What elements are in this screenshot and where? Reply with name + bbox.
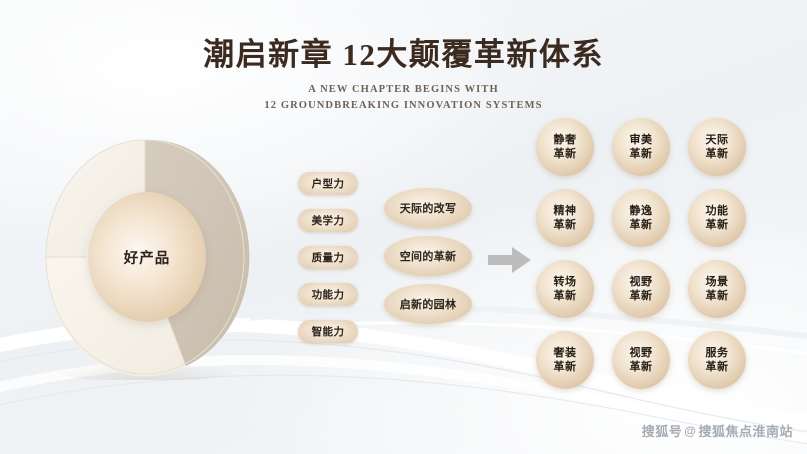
node-line-1: 功能 <box>706 205 729 218</box>
node-line-1: 视野 <box>630 276 653 289</box>
watermark: 搜狐号 @ 搜狐焦点淮南站 <box>642 421 793 440</box>
theme-item-1[interactable]: 空间的革新 <box>384 236 472 276</box>
innovation-node-10[interactable]: 视野 革新 <box>612 331 670 389</box>
innovation-node-8[interactable]: 场景 革新 <box>688 260 746 318</box>
theme-list: 天际的改写 空间的革新 启新的园林 <box>384 188 472 324</box>
innovation-node-7[interactable]: 视野 革新 <box>612 260 670 318</box>
subtitle-line-1: A NEW CHAPTER BEGINS WITH <box>0 82 807 98</box>
node-line-1: 审美 <box>630 134 653 147</box>
innovation-node-6[interactable]: 转场 革新 <box>536 260 594 318</box>
arrow-right-icon <box>488 245 532 275</box>
innovation-node-3[interactable]: 精神 革新 <box>536 189 594 247</box>
node-line-2: 革新 <box>630 219 653 232</box>
watermark-prefix: 搜狐号 <box>642 421 683 440</box>
subtitle-line-2: 12 GROUNDBREAKING INNOVATION SYSTEMS <box>0 98 807 114</box>
theme-label: 天际的改写 <box>400 200 457 216</box>
node-line-1: 精神 <box>554 205 577 218</box>
innovation-node-4[interactable]: 静逸 革新 <box>612 189 670 247</box>
theme-item-2[interactable]: 启新的园林 <box>384 284 472 324</box>
theme-label: 空间的革新 <box>400 248 457 264</box>
innovation-node-9[interactable]: 奢装 革新 <box>536 331 594 389</box>
capability-label: 美学力 <box>312 213 345 228</box>
node-line-2: 革新 <box>706 361 729 374</box>
innovation-grid: 静奢 革新 审美 革新 天际 革新 精神 革新 静逸 革新 功能 革新 转场 革… <box>536 118 764 402</box>
capability-list: 户型力 美学力 质量力 功能力 智能力 <box>298 172 358 343</box>
node-line-2: 革新 <box>706 290 729 303</box>
capability-item-2[interactable]: 质量力 <box>298 246 358 269</box>
capability-item-1[interactable]: 美学力 <box>298 209 358 232</box>
innovation-node-0[interactable]: 静奢 革新 <box>536 118 594 176</box>
innovation-node-2[interactable]: 天际 革新 <box>688 118 746 176</box>
node-line-2: 革新 <box>630 361 653 374</box>
donut-center: 好产品 <box>88 192 206 322</box>
capability-item-3[interactable]: 功能力 <box>298 283 358 306</box>
node-line-1: 服务 <box>706 347 729 360</box>
node-line-2: 革新 <box>554 219 577 232</box>
watermark-suffix: 搜狐焦点淮南站 <box>698 421 793 440</box>
theme-label: 启新的园林 <box>400 296 457 312</box>
capability-item-0[interactable]: 户型力 <box>298 172 358 195</box>
node-line-1: 天际 <box>706 134 729 147</box>
innovation-node-11[interactable]: 服务 革新 <box>688 331 746 389</box>
innovation-node-5[interactable]: 功能 革新 <box>688 189 746 247</box>
node-line-2: 革新 <box>630 148 653 161</box>
title-block: 潮启新章 12大颠覆革新体系 A NEW CHAPTER BEGINS WITH… <box>0 36 807 115</box>
node-line-2: 革新 <box>554 290 577 303</box>
node-line-2: 革新 <box>706 219 729 232</box>
node-line-1: 场景 <box>706 276 729 289</box>
innovation-node-1[interactable]: 审美 革新 <box>612 118 670 176</box>
page-title: 潮启新章 12大颠覆革新体系 <box>0 36 807 73</box>
node-line-1: 视野 <box>630 347 653 360</box>
node-line-2: 革新 <box>630 290 653 303</box>
node-line-1: 静奢 <box>554 134 577 147</box>
node-line-2: 革新 <box>554 148 577 161</box>
capability-label: 户型力 <box>312 176 345 191</box>
theme-item-0[interactable]: 天际的改写 <box>384 188 472 228</box>
capability-label: 功能力 <box>312 287 345 302</box>
node-line-2: 革新 <box>706 148 729 161</box>
node-line-2: 革新 <box>554 361 577 374</box>
watermark-at-icon: @ <box>684 424 696 438</box>
donut-chart: 好产品 <box>36 130 254 380</box>
capability-label: 质量力 <box>312 250 345 265</box>
donut-center-label: 好产品 <box>124 247 171 268</box>
capability-label: 智能力 <box>312 324 345 339</box>
node-line-1: 静逸 <box>630 205 653 218</box>
node-line-1: 转场 <box>554 276 577 289</box>
node-line-1: 奢装 <box>554 347 577 360</box>
capability-item-4[interactable]: 智能力 <box>298 320 358 343</box>
